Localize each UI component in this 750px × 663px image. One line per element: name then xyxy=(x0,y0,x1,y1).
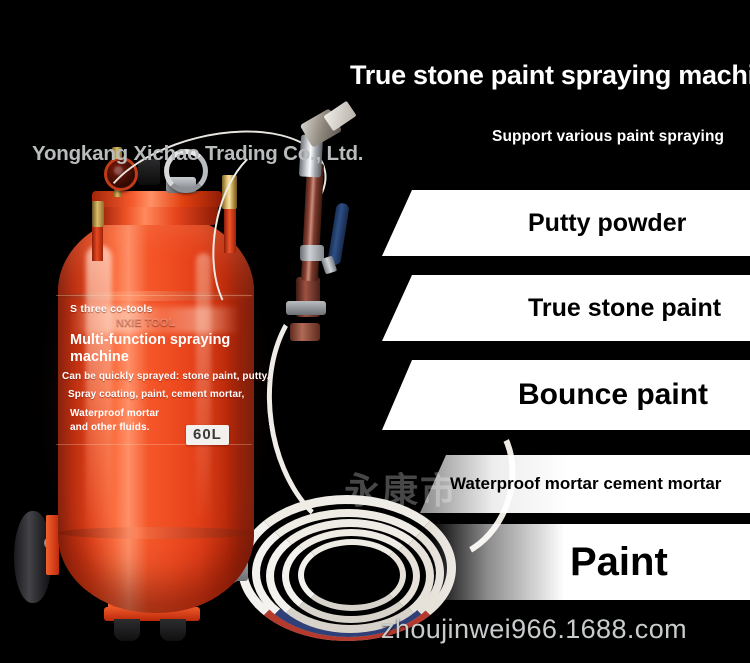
label-desc-line-2: Spray coating, paint, cement mortar, xyxy=(68,389,252,400)
feature-banner-true-stone-paint: True stone paint xyxy=(382,275,750,341)
feature-banner-label: True stone paint xyxy=(528,294,721,323)
product-advertisement-image: S three co-tools NXIE TOOL Multi-functio… xyxy=(0,0,750,663)
feature-banner-paint: Paint xyxy=(430,524,750,600)
hose-coil-loop xyxy=(298,539,406,611)
label-desc-line-1: Can be quickly sprayed: stone paint, put… xyxy=(62,371,252,382)
feature-banner-label: Waterproof mortar cement mortar xyxy=(450,474,721,494)
feature-banner-putty-powder: Putty powder xyxy=(382,190,750,256)
feature-banner-waterproof-mortar: Waterproof mortar cement mortar xyxy=(420,455,750,513)
spraying-machine-product-illustration: S three co-tools NXIE TOOL Multi-functio… xyxy=(0,95,400,655)
spray-gun-coupler xyxy=(290,323,320,341)
tank-volume-badge: 60L xyxy=(186,425,229,445)
page-subtitle: Support various paint spraying xyxy=(492,128,724,146)
label-ghost-brand: NXIE TOOL xyxy=(116,317,252,329)
rubber-foot xyxy=(114,619,140,641)
feature-banner-label: Bounce paint xyxy=(518,378,708,412)
spray-gun-fitting xyxy=(286,301,326,315)
feature-banner-label: Putty powder xyxy=(528,209,686,238)
company-name: Yongkang Xichao Trading Co., Ltd. xyxy=(32,142,363,166)
feature-banner-bounce-paint: Bounce paint xyxy=(382,360,750,430)
rubber-foot xyxy=(160,619,186,641)
label-product-title: Multi-function spraying machine xyxy=(70,332,252,365)
page-title: True stone paint spraying machine xyxy=(350,60,750,91)
tank-printed-label: S three co-tools NXIE TOOL Multi-functio… xyxy=(62,303,252,434)
feature-banner-label: Paint xyxy=(570,540,668,585)
website-watermark: zhoujinwei966.1688.com xyxy=(381,614,687,645)
